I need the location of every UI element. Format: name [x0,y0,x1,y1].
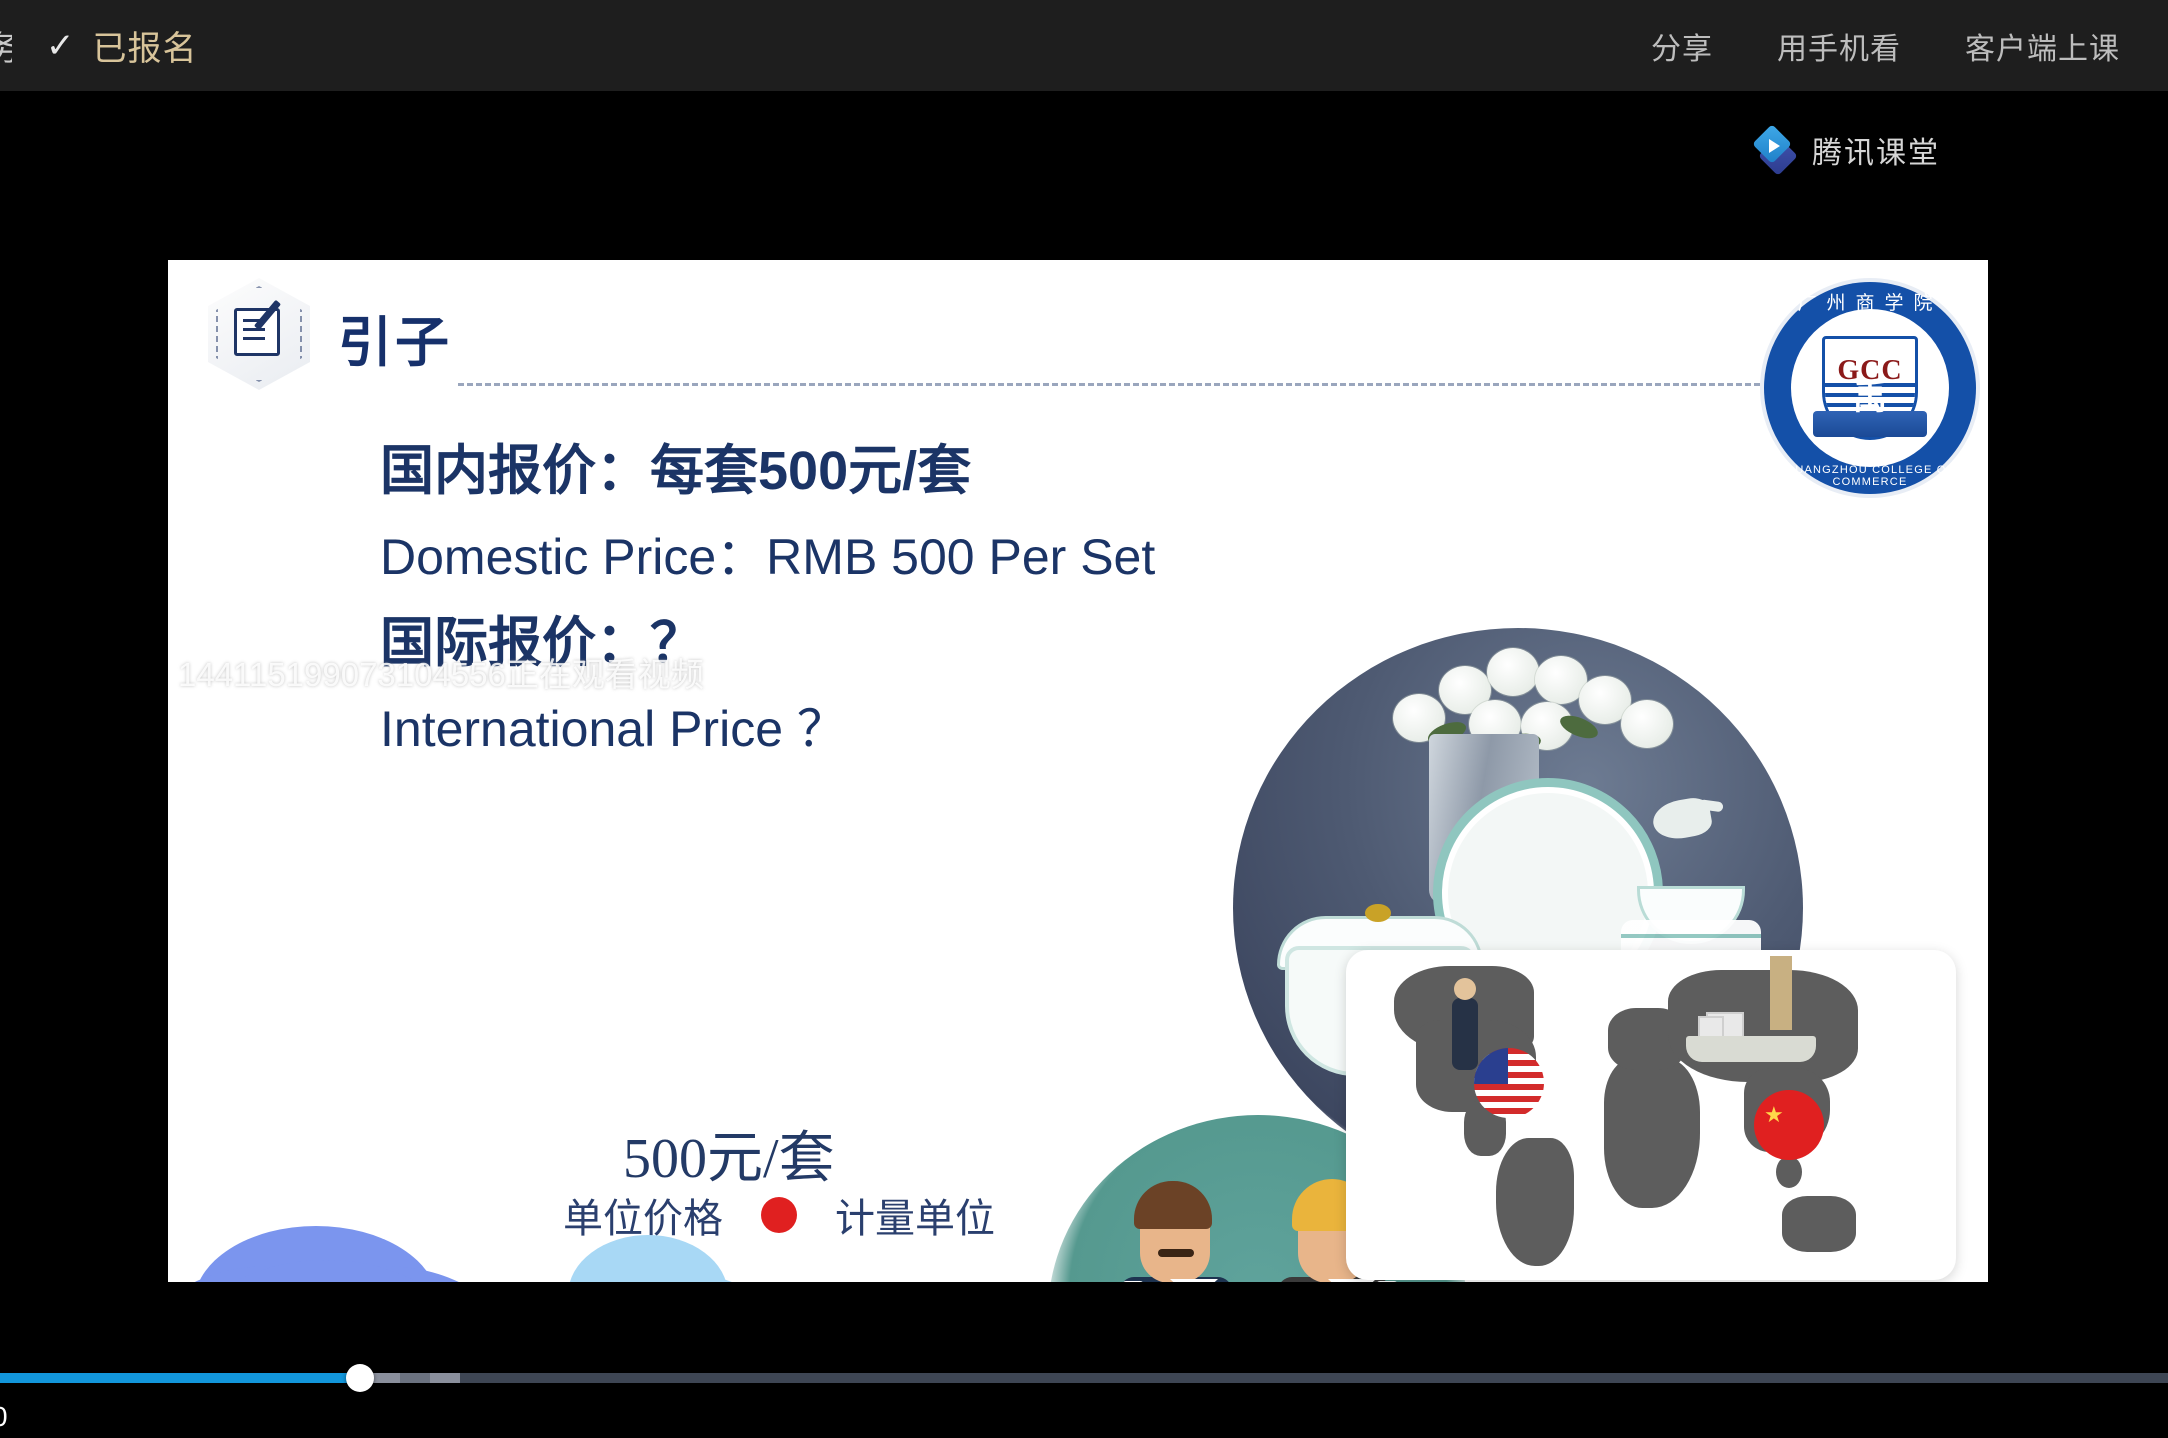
platform-logo: 腾讯课堂 [1758,128,1940,172]
measure-unit-label: 计量单位 [835,1186,995,1244]
current-time-label: 0 [0,1401,8,1433]
clipped-left-text: 务 [0,21,12,70]
progress-played [0,1373,360,1383]
video-player-stage: 务 ✓ 已报名 分享 用手机看 客户端上课 腾讯课堂 引子 [0,0,2168,1438]
landmass-indonesia [1776,1156,1802,1188]
slide-text-block: 国内报价：每套500元/套 Domestic Price：RMB 500 Per… [380,438,1155,782]
top-bar-nav: 分享 用手机看 客户端上课 [1651,24,2168,68]
cargo-ship [1686,1036,1816,1062]
watch-on-phone-button[interactable]: 用手机看 [1777,24,1901,68]
landmass-australia [1782,1196,1856,1252]
world-map-card [1346,950,1956,1280]
lecture-slide: 引子 [168,260,1988,1282]
header-divider [458,383,1913,386]
china-flag-icon [1754,1090,1824,1160]
tureen-knob [1365,904,1391,922]
top-bar: 务 ✓ 已报名 分享 用手机看 客户端上课 [0,0,2168,91]
seal-chinese-ring-text: 广州商学院 [1764,288,1976,315]
progress-buffer-segment-3 [430,1373,460,1383]
domestic-price-cn: 国内报价：每套500元/套 [380,438,1155,506]
red-dot-icon [761,1197,797,1233]
bubble-price-composition-body: 价格 构成 [548,1265,748,1282]
landmass-south-america [1496,1138,1574,1266]
enrolled-status-label: 已报名 [93,21,198,70]
price-expression: 500元/套 [623,1113,835,1194]
bubble-currency-body: 计价/结 算货币 [176,1260,476,1282]
progress-buffer-segment-2 [400,1373,430,1383]
university-seal-logo: 广州商学院 GUANGZHOU COLLEGE OF COMMERCE GCC … [1764,282,1976,494]
ceramic-bird-figure [1650,795,1714,842]
us-flag-icon [1474,1048,1544,1118]
top-bar-left-group: 务 ✓ 已报名 [0,21,198,70]
desktop-client-button[interactable]: 客户端上课 [1965,24,2120,68]
check-icon: ✓ [46,26,75,66]
price-component-labels: 单位价格 计量单位 [563,1186,995,1244]
landmass-africa [1604,1058,1700,1208]
bubble-price-composition: 价格 构成 [548,1265,748,1282]
slide-header: 引子 [208,278,452,390]
seal-inner-disc: GCC 禹 [1791,309,1949,467]
share-button[interactable]: 分享 [1651,24,1713,68]
international-price-en: International Price ？ [380,698,1155,761]
businessman-left [1140,1191,1232,1282]
slide-title: 引子 [338,298,452,377]
platform-name: 腾讯课堂 [1812,128,1940,172]
seal-english-ring-text: GUANGZHOU COLLEGE OF COMMERCE [1764,464,1976,488]
video-progress-bar[interactable] [0,1373,2168,1383]
international-price-cn: 国际报价：？ [380,610,1155,678]
progress-handle[interactable] [346,1364,374,1392]
domestic-price-en: Domestic Price：RMB 500 Per Set [380,526,1155,589]
tencent-classroom-icon [1758,130,1798,170]
buyer-figure [1452,998,1478,1070]
left-person-head [1140,1191,1210,1282]
unit-price-label: 单位价格 [563,1186,723,1244]
seal-center-character: 禹 [1825,370,1915,419]
note-pencil-icon [208,278,310,390]
crane-tower [1770,956,1792,1030]
landmass-asia [1668,970,1858,1082]
bubble-currency: 计价/结 算货币 [176,1260,476,1282]
